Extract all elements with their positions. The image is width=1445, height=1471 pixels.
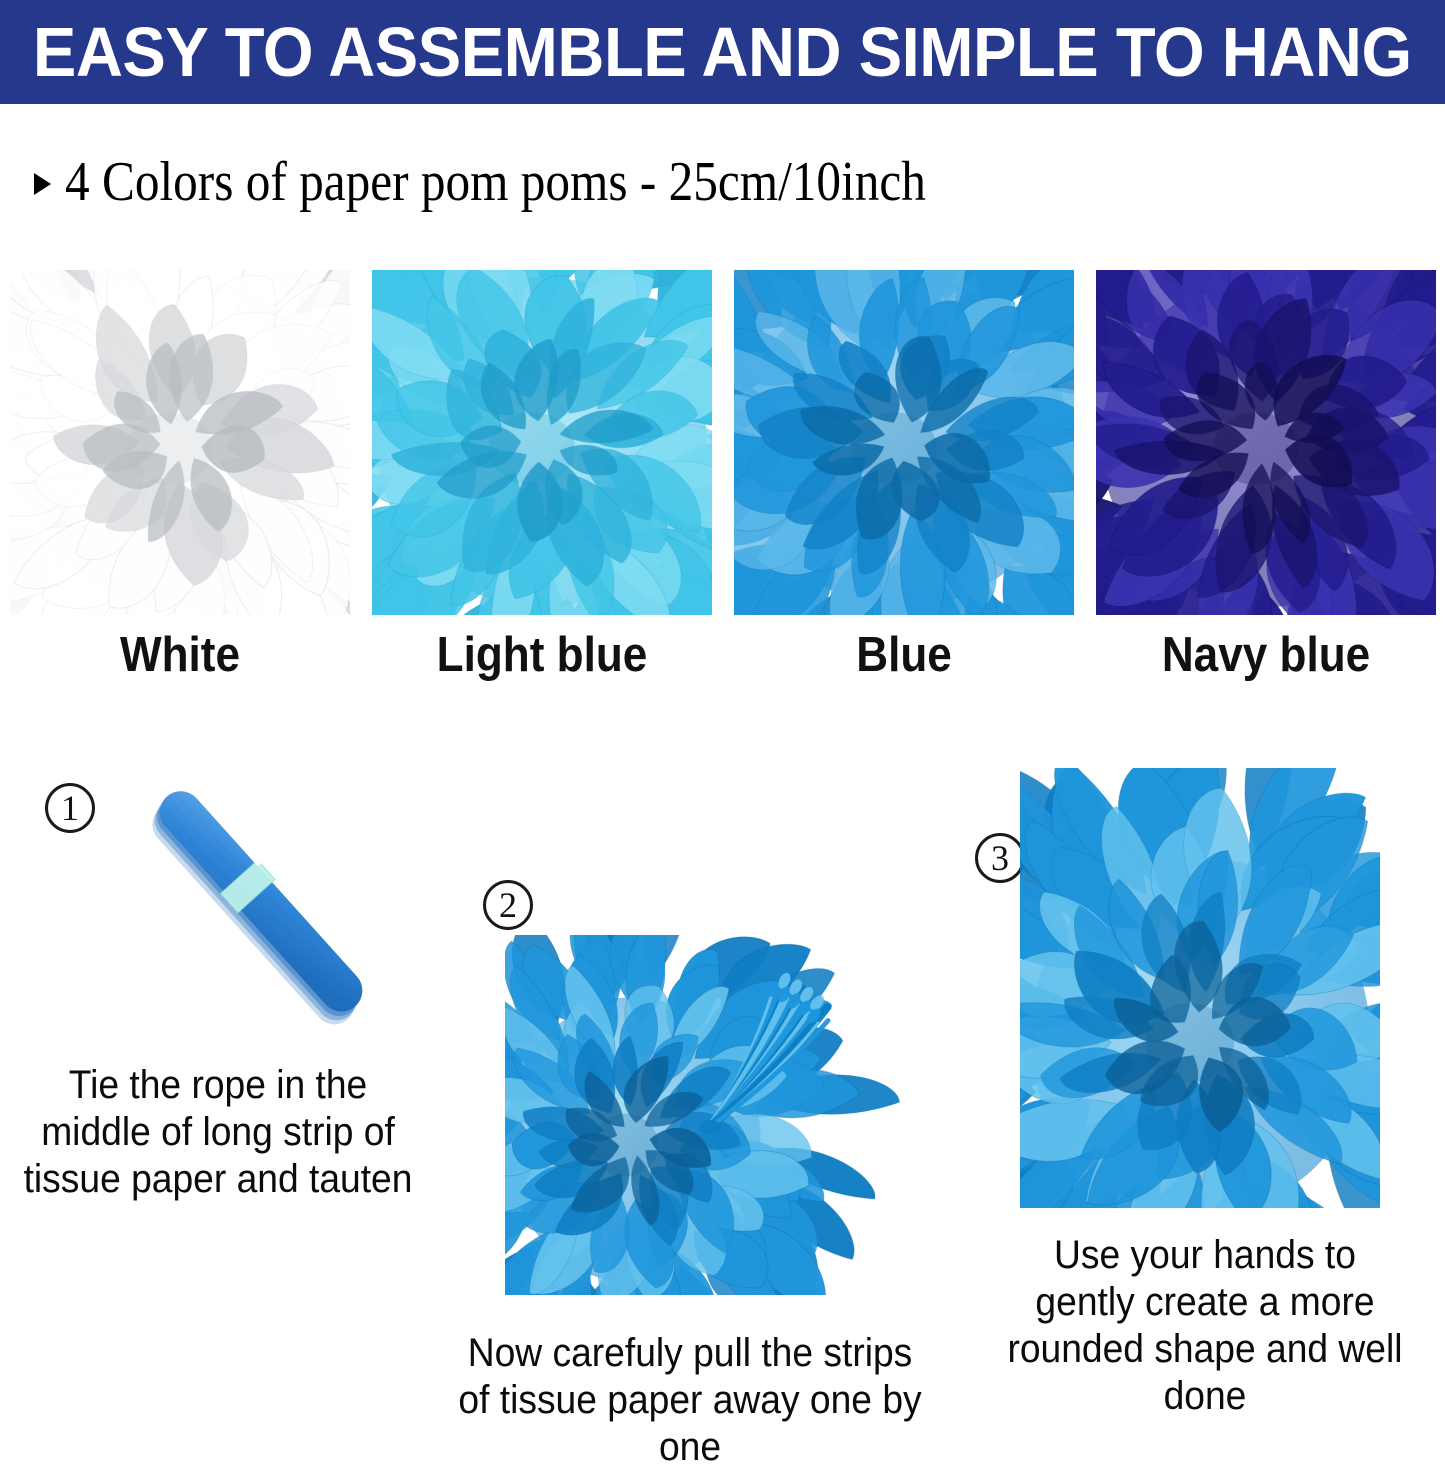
subtitle-row: 4 Colors of paper pom poms - 25cm/10inch [34,152,1043,212]
step-3-badge: 3 [975,833,1025,883]
step-2-badge: 2 [483,880,533,930]
half-opened-pompom-illustration [505,935,915,1295]
color-label-light-blue: Light blue [380,628,704,682]
step-3-caption: Use your hands to gently create a more r… [1000,1232,1409,1420]
color-variant-navy-blue: Navy blue [1086,270,1445,730]
color-variant-blue: Blue [724,270,1084,730]
banner-title: EASY TO ASSEMBLE AND SIMPLE TO HANG [33,16,1412,88]
pompom-light-blue-image [372,270,712,615]
color-variant-white: White [0,270,360,730]
header-banner: EASY TO ASSEMBLE AND SIMPLE TO HANG [0,0,1445,104]
subtitle-text: 4 Colors of paper pom poms - 25cm/10inch [65,152,926,212]
color-variant-light-blue: Light blue [362,270,722,730]
color-variant-row: White Light blue Blue Navy blue [0,270,1445,730]
color-label-blue: Blue [742,628,1066,682]
pompom-blue-image [734,270,1074,615]
tied-tissue-strip-illustration [85,765,415,1055]
pompom-white-image [10,270,350,615]
step-1-caption: Tie the rope in the middle of long strip… [23,1062,414,1203]
pompom-navy-blue-image [1096,270,1436,615]
color-label-white: White [18,628,342,682]
triangle-right-icon [34,173,51,195]
hanging-finished-pompom-illustration [1020,768,1380,1208]
step-2-caption: Now carefuly pull the strips of tissue p… [458,1330,923,1471]
color-label-navy-blue: Navy blue [1104,628,1428,682]
